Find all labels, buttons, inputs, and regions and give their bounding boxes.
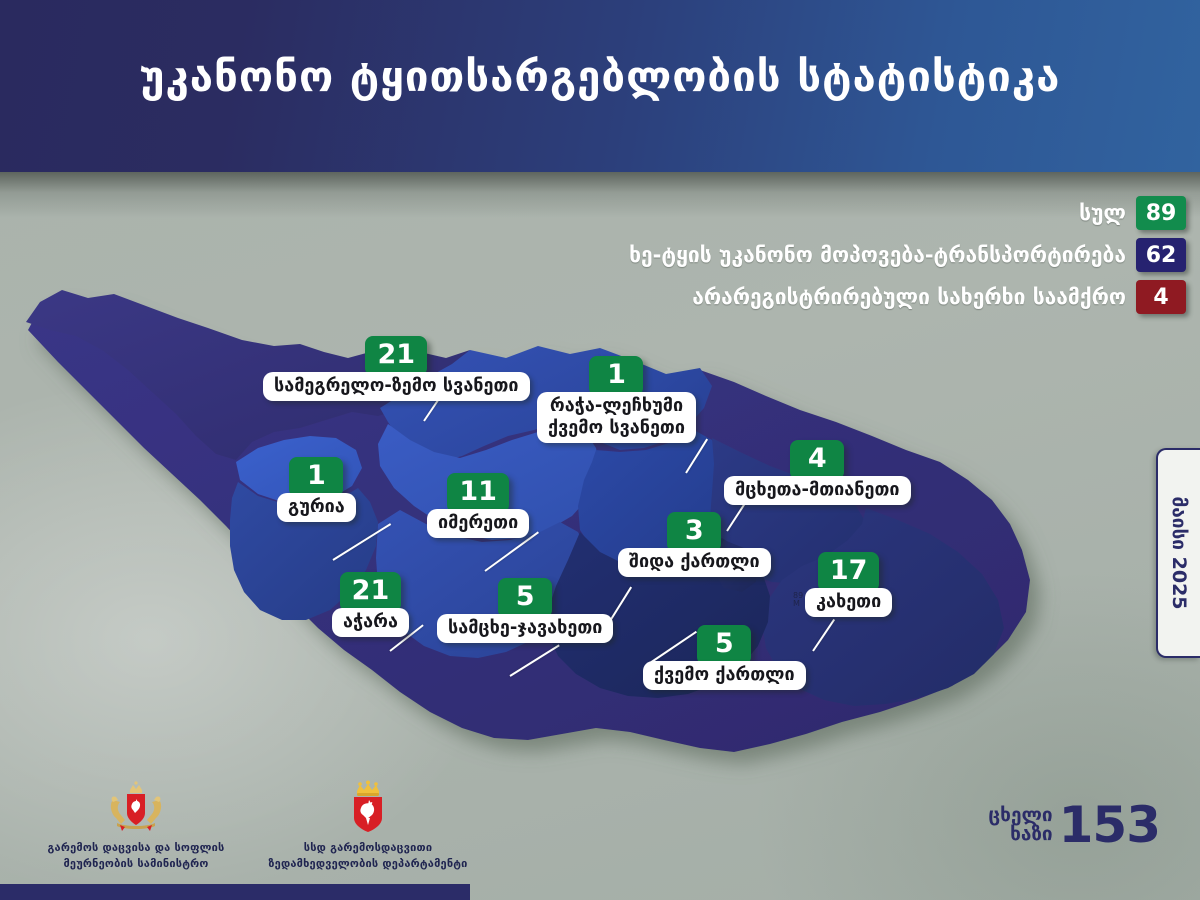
map-marker-kakheti[interactable]: 17 კახეთი [805,552,892,617]
legend-row-unregistered-sawmill: არარეგისტრირებული სახერხი საამქრო 4 [692,280,1186,314]
marker-region-name: სამეგრელო-ზემო სვანეთი [263,372,530,401]
map-marker-shida-kartli[interactable]: 3 შიდა ქართლი [618,512,771,577]
map-marker-guria[interactable]: 1 გურია [277,457,356,522]
map-marker-kvemo-kartli[interactable]: 5 ქვემო ქართლი [643,625,806,690]
marker-count: 1 [589,356,643,396]
marker-region-name: სამცხე-ჯავახეთი [437,614,613,643]
page-title: უკანონო ტყითსარგებლობის სტატისტიკა [0,52,1200,101]
marker-count: 5 [498,578,552,618]
marker-region-name: იმერეთი [427,509,529,538]
environmental-supervision-shield-icon [342,780,394,834]
georgia-coat-of-arms-icon [107,780,165,834]
org-department: სსდ გარემოსდაცვითი ზედამხედველობის დეპარ… [268,780,468,872]
legend-label: ხე-ტყის უკანონო მოპოვება-ტრანსპორტირება [629,243,1126,267]
map-marker-racha-lechkhumi-kvemo-svaneti[interactable]: 1 რაჭა-ლეჩხუმი ქვემო სვანეთი [537,356,696,443]
map-marker-samtskhe-javakheti[interactable]: 5 სამცხე-ჯავახეთი [437,578,613,643]
marker-region-name: შიდა ქართლი [618,548,771,577]
map-marker-mtskheta-mtianeti[interactable]: 4 მცხეთა-მთიანეთი [724,440,911,505]
header-banner: უკანონო ტყითსარგებლობის სტატისტიკა [0,0,1200,172]
org-caption: სსდ გარემოსდაცვითი ზედამხედველობის დეპარ… [268,840,468,872]
legend-value-chip: 89 [1136,196,1186,230]
footer-accent-bar [0,884,470,900]
infographic-canvas: უკანონო ტყითსარგებლობის სტატისტიკა სულ 8… [0,0,1200,900]
marker-region-name: მცხეთა-მთიანეთი [724,476,911,505]
marker-count: 21 [340,572,402,612]
legend-label: სულ [1079,201,1126,225]
legend-value-chip: 4 [1136,280,1186,314]
map-watermark: 89 M [793,592,803,609]
hotline-label: ცხელი ხაზი [988,806,1052,844]
marker-count: 21 [365,336,427,376]
map-marker-samegrelo-zemo-svaneti[interactable]: 21 სამეგრელო-ზემო სვანეთი [263,336,530,401]
hotline: ცხელი ხაზი 153 [988,802,1160,848]
org-caption: გარემოს დაცვისა და სოფლის მეურნეობის სამ… [36,840,236,872]
map-marker-adjara[interactable]: 21 აჭარა [332,572,409,637]
marker-count: 4 [790,440,844,480]
marker-count: 17 [818,552,880,592]
date-tab-label: მაისი 2025 [1168,496,1190,609]
date-tab: მაისი 2025 [1156,448,1200,658]
marker-count: 11 [447,473,509,513]
marker-region-name: ქვემო ქართლი [643,661,806,690]
legend-row-illegal-logging: ხე-ტყის უკანონო მოპოვება-ტრანსპორტირება … [629,238,1186,272]
marker-region-name: აჭარა [332,608,409,637]
marker-count: 3 [667,512,721,552]
legend-label: არარეგისტრირებული სახერხი საამქრო [692,285,1126,309]
legend-value-chip: 62 [1136,238,1186,272]
marker-count: 5 [697,625,751,665]
org-ministry: გარემოს დაცვისა და სოფლის მეურნეობის სამ… [36,780,236,872]
marker-region-name: კახეთი [805,588,892,617]
marker-region-name: გურია [277,493,356,522]
marker-count: 1 [289,457,343,497]
hotline-number: 153 [1059,802,1160,848]
map-marker-imereti[interactable]: 11 იმერეთი [427,473,529,538]
marker-region-name: რაჭა-ლეჩხუმი ქვემო სვანეთი [537,392,696,443]
legend-row-total: სულ 89 [1079,196,1186,230]
footer: გარემოს დაცვისა და სოფლის მეურნეობის სამ… [0,780,1200,900]
legend: სულ 89 ხე-ტყის უკანონო მოპოვება-ტრანსპორ… [629,196,1186,314]
